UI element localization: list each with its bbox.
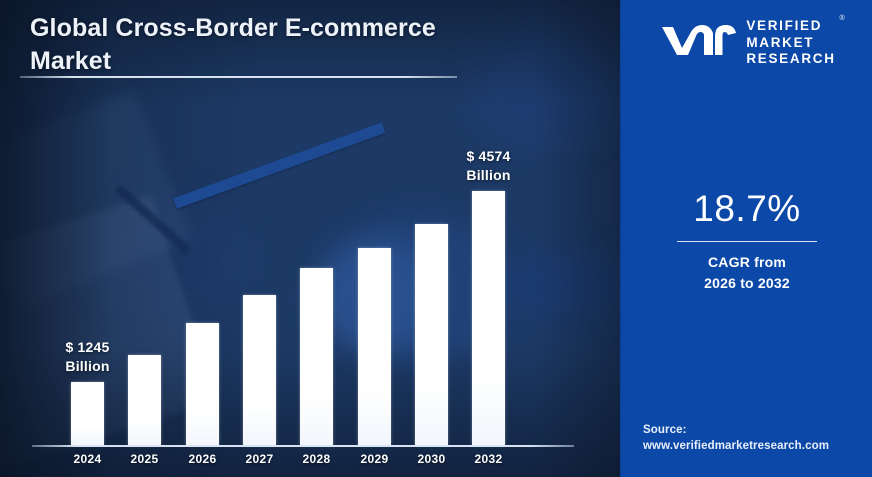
- source-url[interactable]: www.verifiedmarketresearch.com: [643, 440, 829, 452]
- bar-chart: 20242025202620272028202920302032 $ 1245B…: [0, 0, 620, 477]
- bar-2027: [243, 295, 276, 445]
- bar-2029: [358, 248, 391, 445]
- bar-2026: [186, 323, 219, 445]
- source-attribution: Source: www.verifiedmarketresearch.com: [643, 422, 829, 455]
- value-unit: Billion: [65, 358, 109, 374]
- infographic-root: Global Cross-Border E-commerce Market 20…: [0, 0, 872, 477]
- x-tick-2028: 2028: [288, 452, 345, 466]
- cagr-caption-line1: CAGR from: [708, 254, 786, 270]
- bar-2024: [71, 382, 104, 445]
- cagr-divider: [677, 241, 817, 242]
- x-tick-2027: 2027: [231, 452, 288, 466]
- cagr-value: 18.7%: [621, 188, 872, 230]
- x-tick-2032: 2032: [460, 452, 517, 466]
- bar-2030: [415, 224, 448, 445]
- brand-name-line2: MARKET: [746, 35, 814, 50]
- x-axis-line: [32, 445, 574, 447]
- x-tick-2024: 2024: [59, 452, 116, 466]
- brand-name: VERIFIED MARKET RESEARCH ®: [746, 18, 835, 67]
- bar-2028: [300, 268, 333, 445]
- brand-panel: VERIFIED MARKET RESEARCH ® 18.7% CAGR fr…: [620, 0, 872, 477]
- bar-2032: [472, 191, 505, 445]
- value-unit: Billion: [466, 167, 510, 183]
- brand-name-line1: VERIFIED: [746, 18, 822, 33]
- value-label-2032: $ 4574Billion: [429, 147, 549, 185]
- vmr-logo-icon: [658, 21, 736, 66]
- cagr-caption-line2: 2026 to 2032: [704, 275, 790, 291]
- value-amount: $ 4574: [466, 148, 510, 164]
- x-tick-2025: 2025: [116, 452, 173, 466]
- chart-panel: Global Cross-Border E-commerce Market 20…: [0, 0, 620, 477]
- x-tick-2030: 2030: [403, 452, 460, 466]
- brand-name-line3: RESEARCH: [746, 51, 835, 66]
- registered-trademark-icon: ®: [840, 15, 845, 24]
- cagr-caption: CAGR from 2026 to 2032: [621, 252, 872, 294]
- x-tick-2026: 2026: [174, 452, 231, 466]
- value-amount: $ 1245: [65, 339, 109, 355]
- brand-logo[interactable]: VERIFIED MARKET RESEARCH ®: [621, 10, 872, 76]
- source-label: Source:: [643, 424, 687, 436]
- value-label-2024: $ 1245Billion: [28, 338, 148, 376]
- x-tick-2029: 2029: [346, 452, 403, 466]
